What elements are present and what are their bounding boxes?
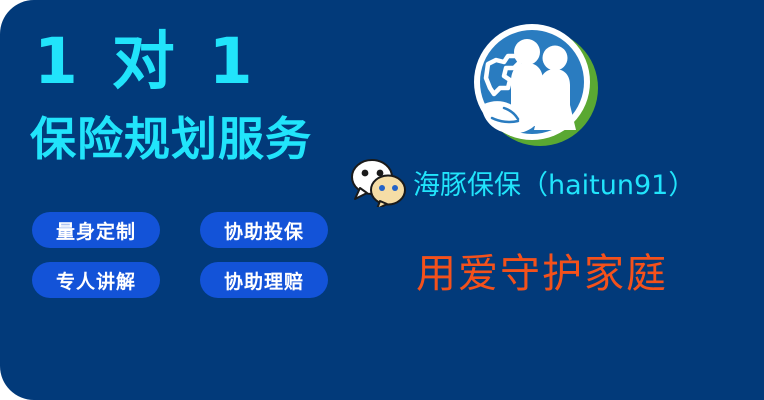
wechat-id-text: 海豚保保（haitun91） <box>413 163 695 202</box>
feature-pill-assist-claim[interactable]: 协助理赔 <box>200 262 328 298</box>
wechat-contact-row[interactable]: 海豚保保（haitun91） <box>350 157 695 207</box>
page-subtitle: 保险规划服务 <box>30 112 312 166</box>
right-content-column: 海豚保保（haitun91） 用爱守护家庭 <box>350 0 764 400</box>
feature-pill-assist-apply[interactable]: 协助投保 <box>200 212 328 248</box>
feature-pill-grid: 量身定制 协助投保 专人讲解 协助理赔 <box>32 212 332 312</box>
feature-pill-row: 量身定制 协助投保 <box>32 212 332 248</box>
brand-slogan: 用爱守护家庭 <box>416 250 668 298</box>
feature-pill-row: 专人讲解 协助理赔 <box>32 262 332 298</box>
promo-banner: 1 对 1 保险规划服务 量身定制 协助投保 专人讲解 协助理赔 <box>0 0 764 400</box>
page-title: 1 对 1 <box>34 27 259 97</box>
left-content-column: 1 对 1 保险规划服务 量身定制 协助投保 专人讲解 协助理赔 <box>0 0 350 400</box>
feature-pill-custom-plan[interactable]: 量身定制 <box>32 212 160 248</box>
brand-logo <box>474 22 598 150</box>
dolphin-family-globe-icon <box>474 22 598 150</box>
wechat-icon <box>350 157 412 207</box>
feature-pill-expert-explain[interactable]: 专人讲解 <box>32 262 160 298</box>
